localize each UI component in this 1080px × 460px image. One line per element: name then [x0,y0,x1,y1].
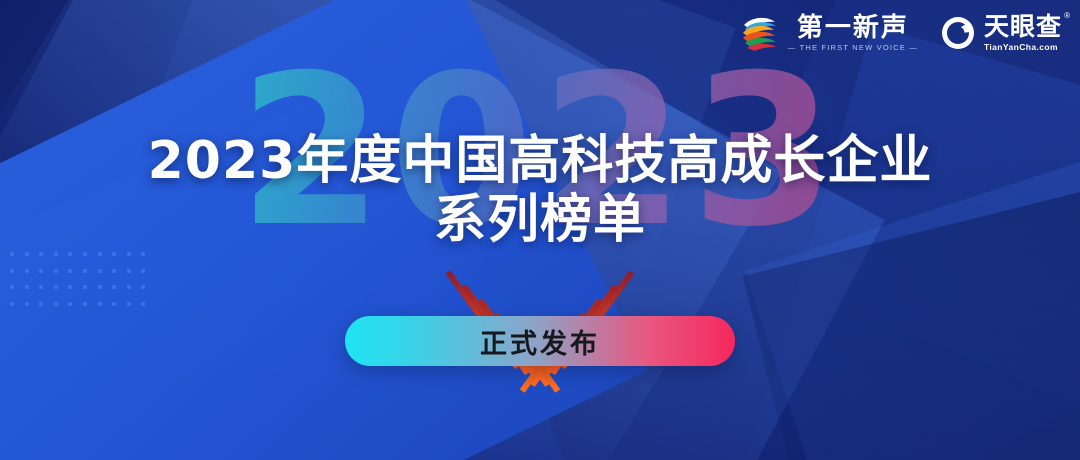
dot-grid-decoration [10,252,156,318]
header-logos: 第一新声 — THE FIRST NEW VOICE — 天眼查 ® TianY… [738,12,1062,54]
tyc-logo-domain: TianYanCha.com [984,42,1058,52]
promo-banner: 2023 第一新声 — THE FIRST NEW VO [0,0,1080,460]
headline: 2023年度中国高科技高成长企业 系列榜单 [0,132,1080,251]
dyxs-logo-cn-text: 第一新声 [797,14,909,41]
logo-diyixinsheng[interactable]: 第一新声 — THE FIRST NEW VOICE — [738,12,918,54]
dyxs-swirl-logo-icon [738,12,780,54]
tyc-logo-cn-text: 天眼查 ® [984,14,1062,40]
release-announcement-button[interactable]: 正式发布 [345,316,735,366]
headline-line-1: 2023年度中国高科技高成长企业 [0,132,1080,191]
dyxs-logo-tagline: — THE FIRST NEW VOICE — [788,43,918,52]
headline-line-2: 系列榜单 [0,191,1080,250]
cta-container: 正式发布 [345,316,735,366]
tyc-logo-cn-label: 天眼查 [984,13,1062,41]
tyc-eye-logo-icon [940,15,976,51]
release-announcement-label: 正式发布 [480,322,600,361]
tyc-trademark-symbol: ® [1064,12,1071,20]
logo-tianyancha[interactable]: 天眼查 ® TianYanCha.com [940,14,1062,51]
